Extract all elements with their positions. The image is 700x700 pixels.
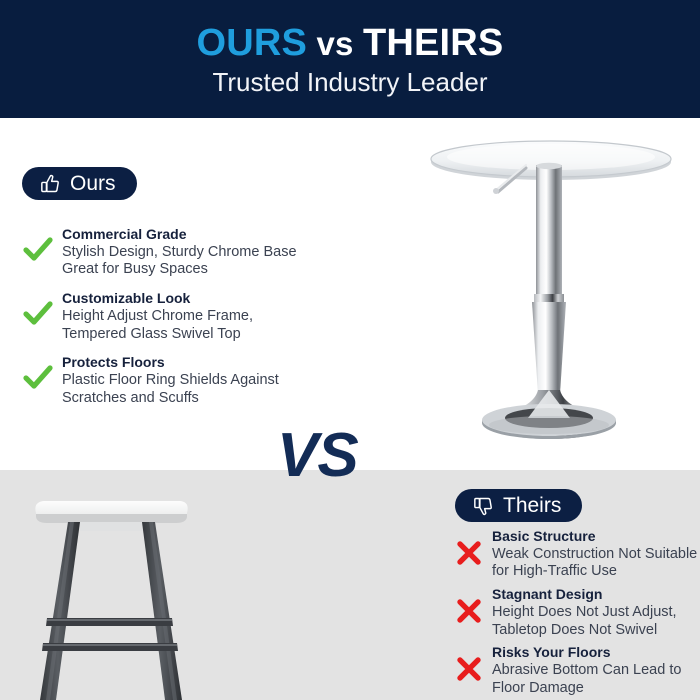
header-banner: OURS vs THEIRS Trusted Industry Leader (0, 0, 700, 118)
list-item: Basic Structure Weak Construction Not Su… (452, 528, 700, 581)
cross-icon (452, 528, 486, 566)
product-image-ours (408, 122, 694, 452)
list-item: Commercial Grade Stylish Design, Sturdy … (20, 226, 310, 279)
list-item-desc: Plastic Floor Ring Shields Against Scrat… (62, 372, 310, 408)
list-item-title: Customizable Look (62, 290, 310, 307)
theirs-badge-label: Theirs (503, 495, 561, 516)
thumbs-up-icon (39, 173, 61, 195)
cross-icon (452, 644, 486, 682)
check-icon (20, 226, 56, 263)
product-image-theirs (0, 470, 222, 700)
list-item-title: Commercial Grade (62, 226, 310, 243)
list-item: Stagnant Design Height Does Not Just Adj… (452, 586, 700, 639)
list-item-title: Protects Floors (62, 354, 310, 371)
comparison-infographic: OURS vs THEIRS Trusted Industry Leader (0, 0, 700, 700)
theirs-badge[interactable]: Theirs (455, 489, 582, 522)
page-subtitle: Trusted Industry Leader (212, 69, 487, 95)
title-ours: OURS (197, 22, 308, 64)
vs-label: VS (277, 425, 358, 487)
thumbs-down-icon (472, 495, 494, 517)
cross-icon (452, 586, 486, 624)
list-item: Protects Floors Plastic Floor Ring Shiel… (20, 354, 310, 407)
list-item-desc: Weak Construction Not Suitable for High-… (492, 546, 700, 582)
theirs-drawback-list: Basic Structure Weak Construction Not Su… (452, 528, 700, 700)
check-icon (20, 290, 56, 327)
check-icon (20, 354, 56, 391)
list-item: Customizable Look Height Adjust Chrome F… (20, 290, 310, 343)
list-item: Risks Your Floors Abrasive Bottom Can Le… (452, 644, 700, 697)
list-item-title: Risks Your Floors (492, 644, 700, 661)
list-item-desc: Height Adjust Chrome Frame, Tempered Gla… (62, 308, 310, 344)
list-item-desc: Abrasive Bottom Can Lead to Floor Damage (492, 662, 700, 698)
ours-benefit-list: Commercial Grade Stylish Design, Sturdy … (20, 226, 310, 419)
list-item-title: Stagnant Design (492, 586, 700, 603)
page-title: OURS vs THEIRS (197, 24, 504, 62)
list-item-title: Basic Structure (492, 528, 700, 545)
list-item-desc: Height Does Not Just Adjust, Tabletop Do… (492, 604, 700, 640)
title-theirs: THEIRS (363, 22, 504, 64)
list-item-desc: Stylish Design, Sturdy Chrome Base Great… (62, 244, 310, 280)
title-vs: vs (307, 25, 363, 62)
ours-badge[interactable]: Ours (22, 167, 137, 200)
ours-badge-label: Ours (70, 173, 116, 194)
